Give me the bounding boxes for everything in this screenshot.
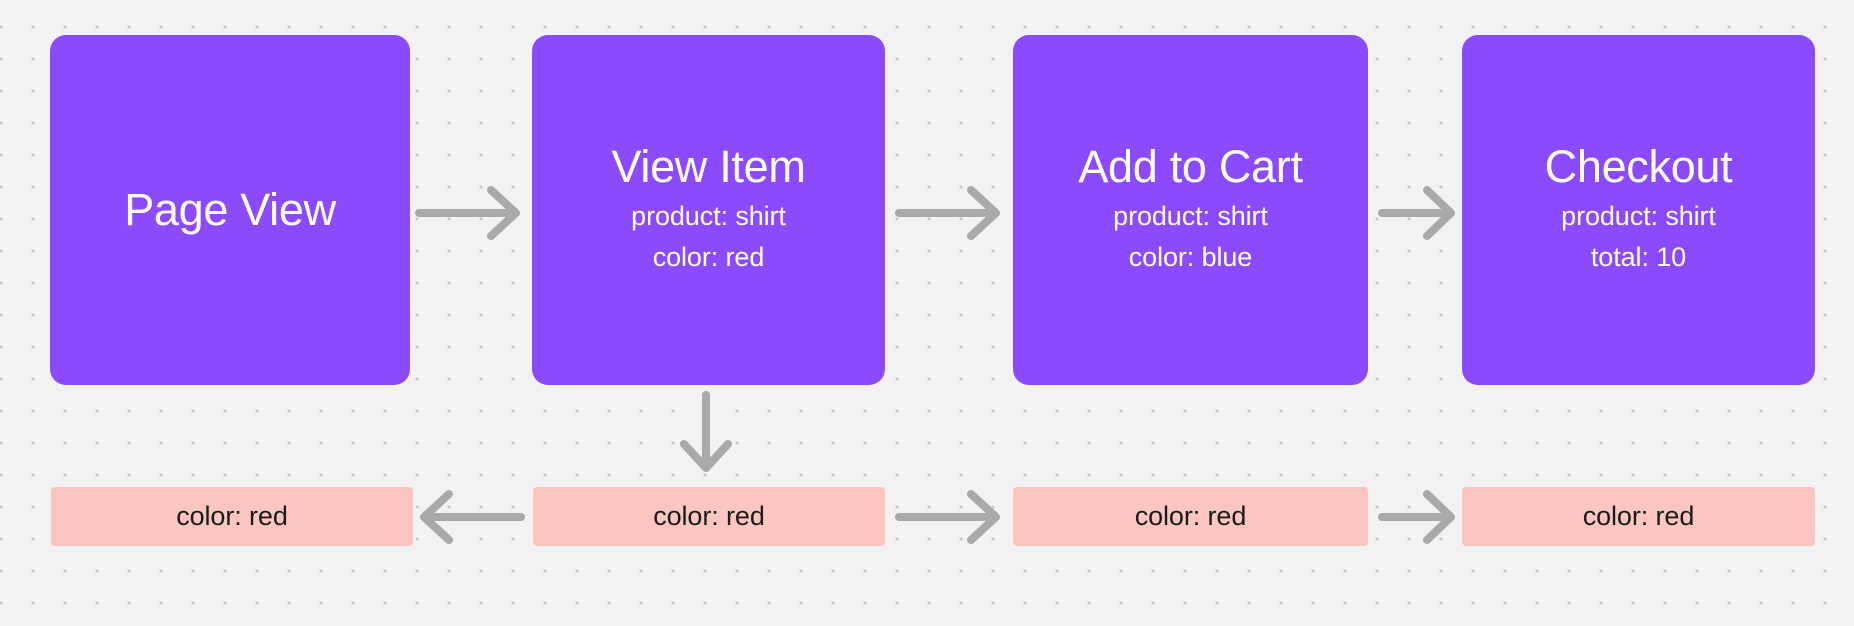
- property-node-label: color: red: [176, 501, 288, 532]
- event-node-property: color: blue: [1113, 237, 1268, 278]
- property-node-label: color: red: [1583, 501, 1695, 532]
- property-node-2[interactable]: color: red: [533, 487, 885, 546]
- event-node-checkout[interactable]: Checkout product: shirt total: 10: [1462, 35, 1815, 385]
- event-node-page-view[interactable]: Page View: [50, 35, 410, 385]
- arrow-left-icon: [415, 486, 525, 548]
- property-node-4[interactable]: color: red: [1462, 487, 1815, 546]
- property-node-1[interactable]: color: red: [51, 487, 413, 546]
- arrow-right-icon: [417, 182, 525, 244]
- property-node-label: color: red: [1135, 501, 1247, 532]
- arrow-right-icon: [897, 182, 1005, 244]
- diagram-canvas: Page View View Item product: shirt color…: [0, 0, 1854, 626]
- event-node-properties: product: shirt color: blue: [1113, 196, 1268, 278]
- arrow-right-icon: [897, 486, 1005, 548]
- event-node-title: View Item: [611, 142, 805, 192]
- event-node-title: Add to Cart: [1078, 142, 1302, 192]
- property-node-label: color: red: [653, 501, 765, 532]
- event-node-properties: product: shirt total: 10: [1561, 196, 1716, 278]
- event-node-property: product: shirt: [1561, 196, 1716, 237]
- event-node-title: Page View: [124, 185, 336, 235]
- event-node-property: product: shirt: [1113, 196, 1268, 237]
- event-node-properties: product: shirt color: red: [631, 196, 786, 278]
- event-node-property: color: red: [631, 237, 786, 278]
- arrow-right-icon: [1380, 486, 1460, 548]
- arrow-right-icon: [1380, 182, 1460, 244]
- event-node-view-item[interactable]: View Item product: shirt color: red: [532, 35, 885, 385]
- event-node-property: product: shirt: [631, 196, 786, 237]
- arrow-down-icon: [675, 393, 737, 477]
- event-node-add-to-cart[interactable]: Add to Cart product: shirt color: blue: [1013, 35, 1368, 385]
- property-node-3[interactable]: color: red: [1013, 487, 1368, 546]
- event-node-title: Checkout: [1545, 142, 1733, 192]
- event-node-property: total: 10: [1561, 237, 1716, 278]
